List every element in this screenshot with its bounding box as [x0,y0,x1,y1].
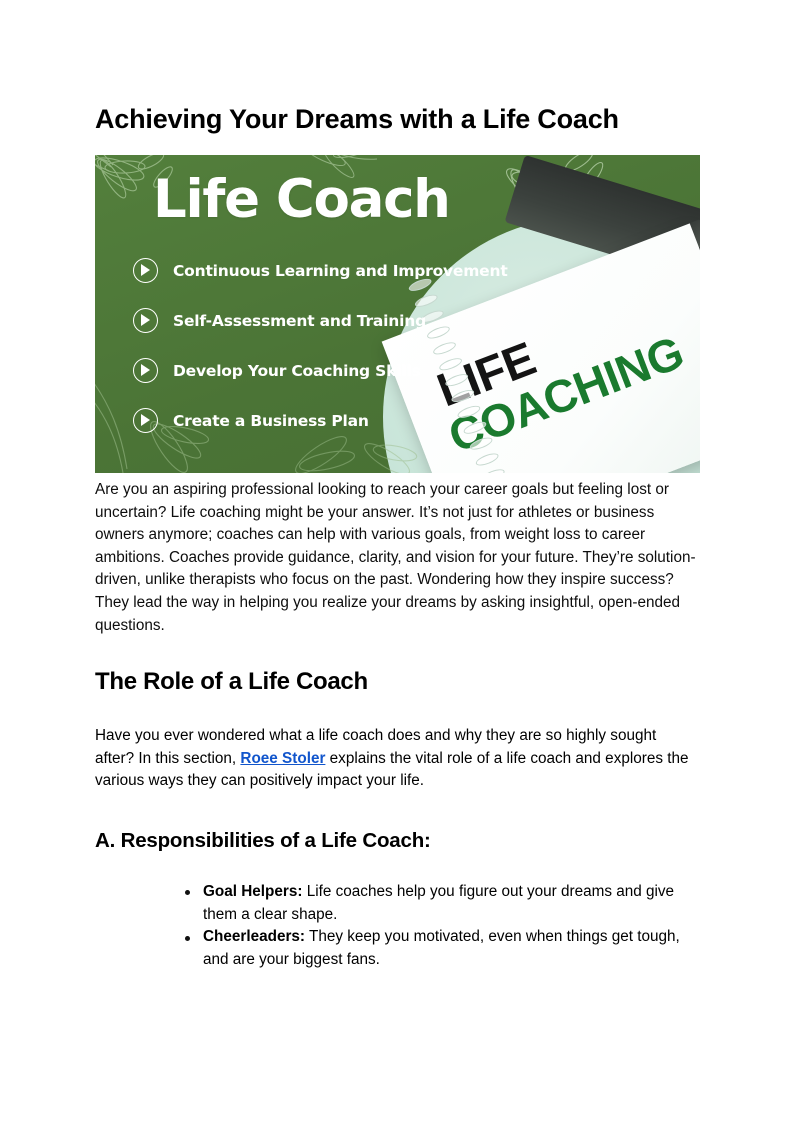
banner-list-item: Create a Business Plan [133,408,508,433]
banner-list-item: Self-Assessment and Training [133,308,508,333]
list-item-lead: Goal Helpers: [203,883,302,900]
page-title: Achieving Your Dreams with a Life Coach [95,93,655,145]
section-heading: The Role of a Life Coach [95,667,700,697]
banner-headline: Life Coach [153,173,450,226]
roee-stoler-link[interactable]: Roee Stoler [240,750,325,767]
chevron-right-circle-icon [133,308,158,333]
chevron-right-circle-icon [133,258,158,283]
intro-paragraph: Are you an aspiring professional looking… [95,479,698,637]
banner-list-item-label: Develop Your Coaching Skills [173,362,421,380]
section-paragraph: Have you ever wondered what a life coach… [95,725,690,793]
banner-feature-list: Continuous Learning and Improvement Self… [133,258,508,433]
banner-list-item: Develop Your Coaching Skills [133,358,508,383]
list-item-lead: Cheerleaders: [203,928,305,945]
chevron-right-circle-icon [133,358,158,383]
subsection-heading: A. Responsibilities of a Life Coach: [95,828,700,854]
banner-list-item-label: Self-Assessment and Training [173,312,426,330]
life-coach-banner-image: LIFE COACHING [95,155,700,473]
document-content: Achieving Your Dreams with a Life Coach [95,93,700,971]
list-item: Cheerleaders: They keep you motivated, e… [185,926,693,971]
banner-list-item: Continuous Learning and Improvement [133,258,508,283]
list-item: Goal Helpers: Life coaches help you figu… [185,881,693,926]
responsibilities-list: Goal Helpers: Life coaches help you figu… [95,881,700,971]
banner-list-item-label: Continuous Learning and Improvement [173,262,508,280]
banner-list-item-label: Create a Business Plan [173,412,369,430]
document-page: Achieving Your Dreams with a Life Coach [0,0,795,1123]
chevron-right-circle-icon [133,408,158,433]
